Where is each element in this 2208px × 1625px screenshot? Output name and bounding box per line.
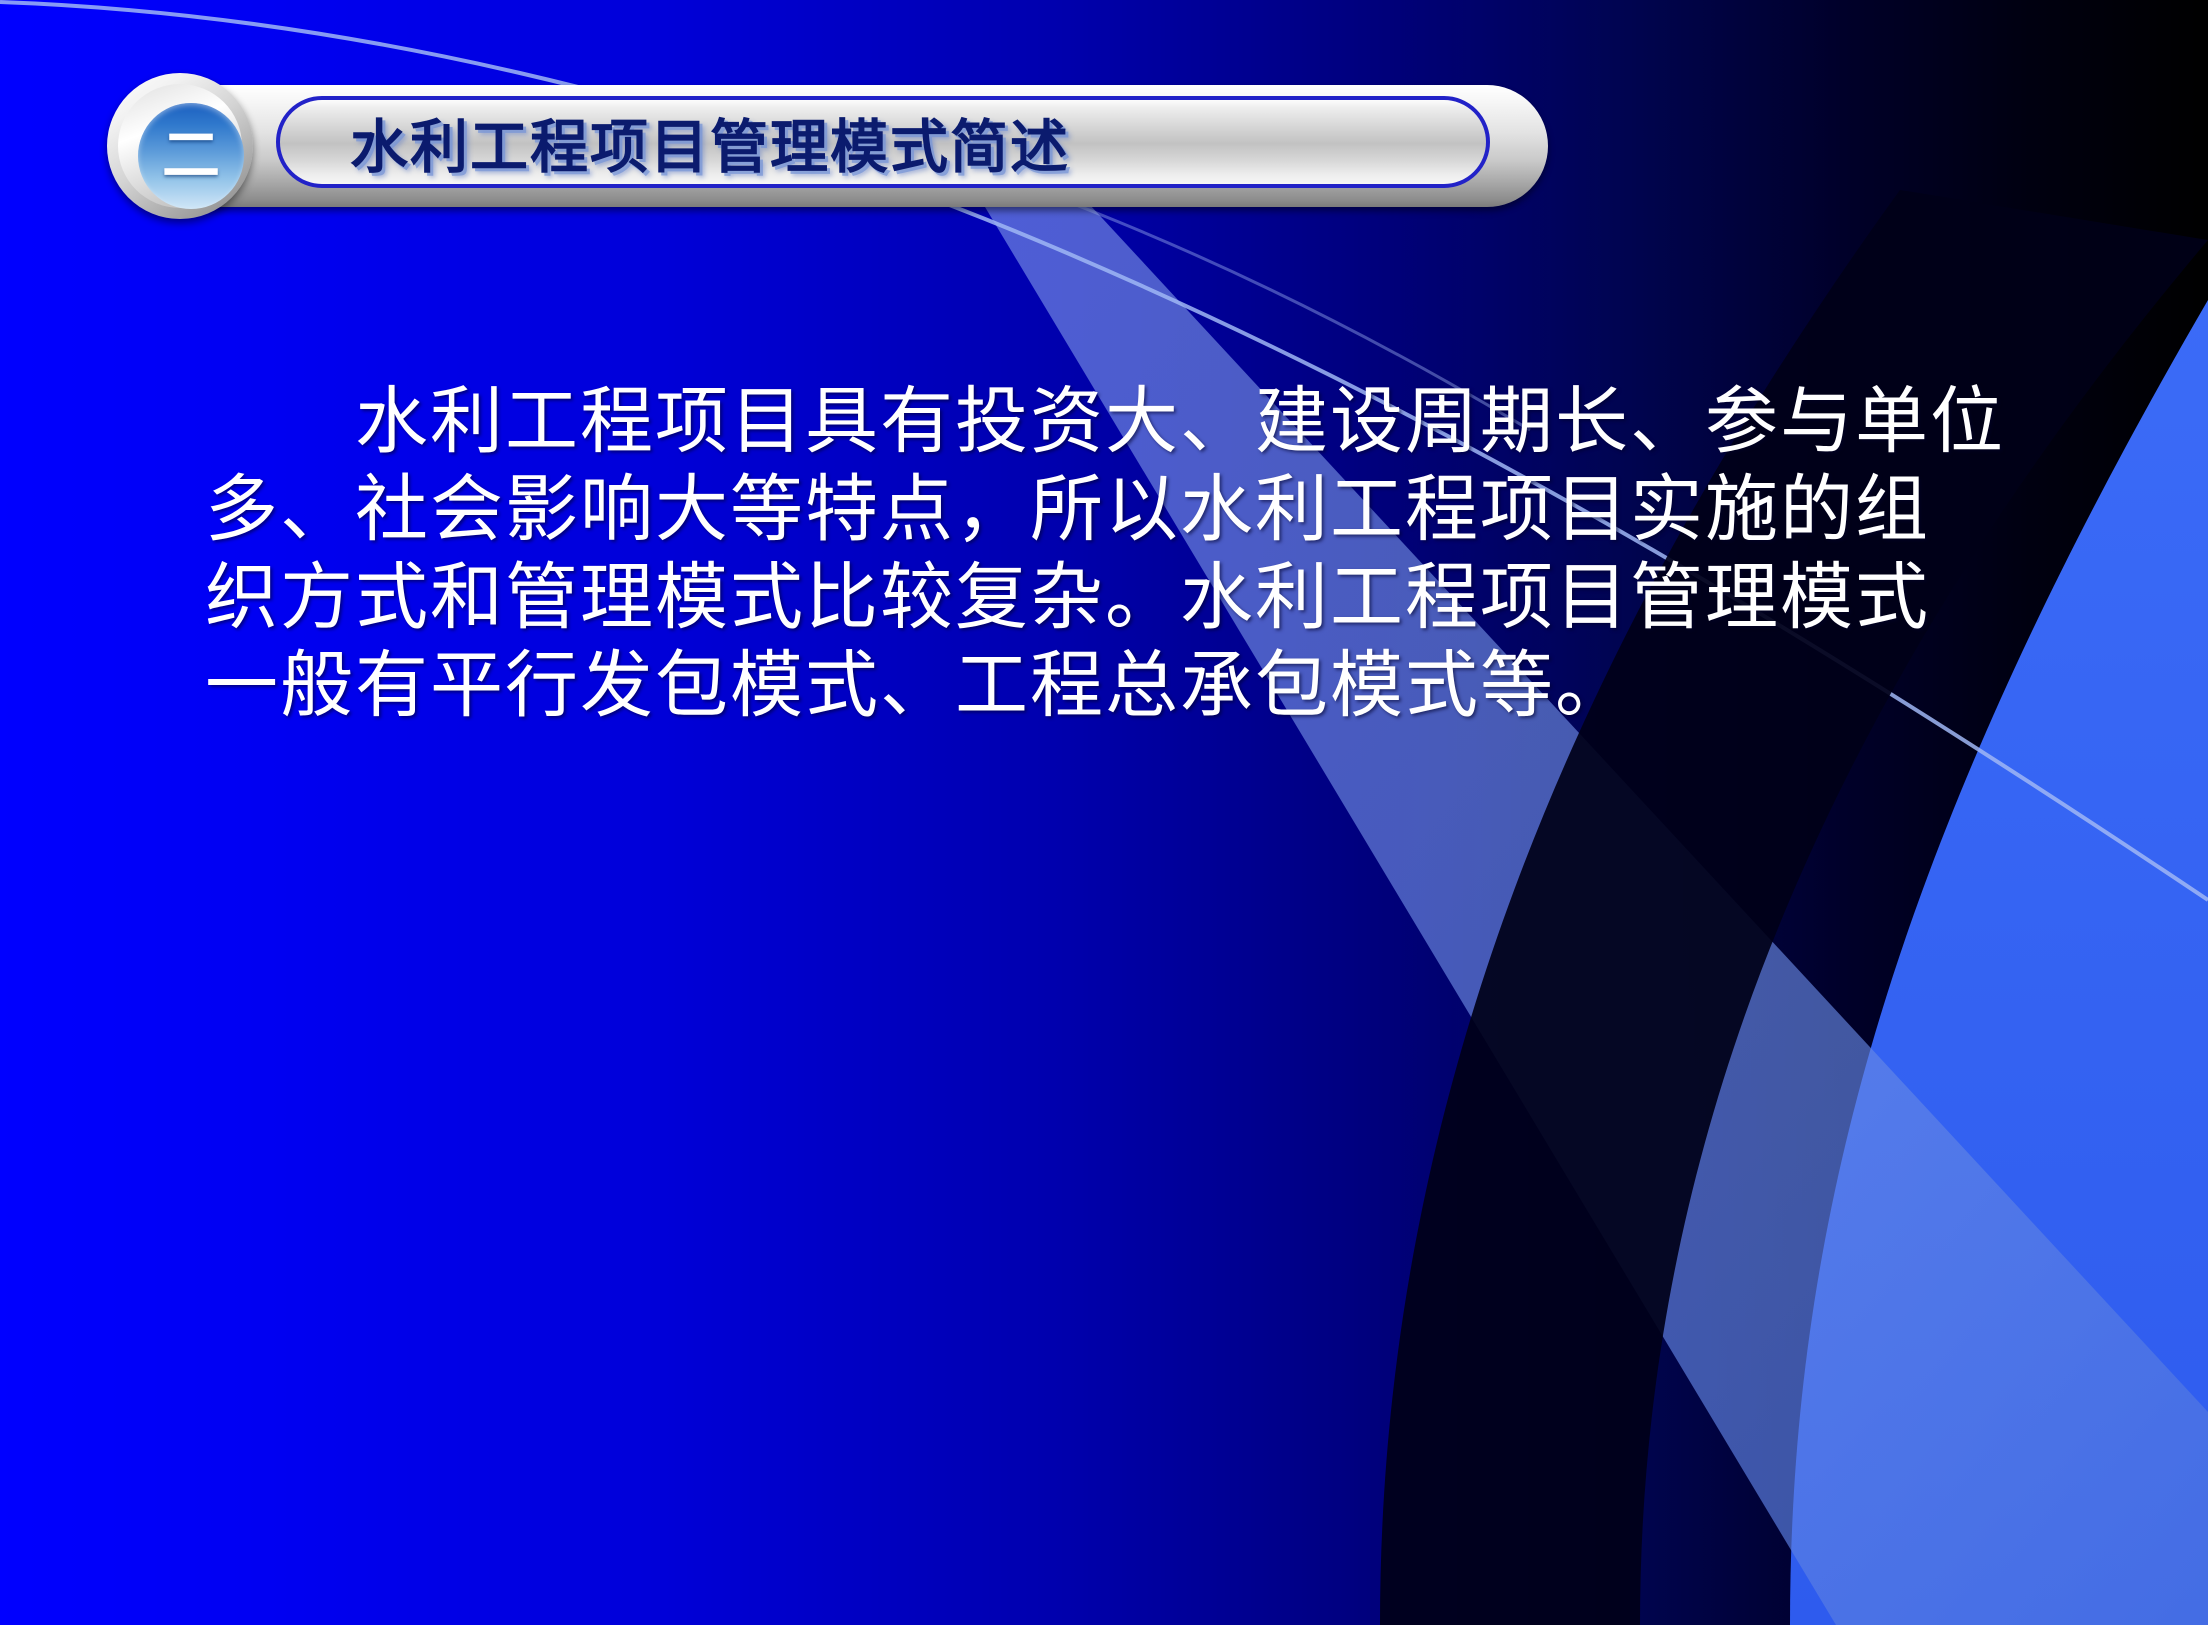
- slide-body-text: 水利工程项目具有投资大、建设周期长、参与单位 多、社会影响大等特点，所以水利工程…: [205, 378, 2095, 730]
- paragraph-line: 织方式和管理模式比较复杂。水利工程项目管理模式: [205, 554, 2095, 642]
- title-bar-pill: 水利工程项目管理模式简述: [276, 96, 1490, 188]
- page-title: 水利工程项目管理模式简述: [350, 100, 1070, 184]
- paragraph-line: 一般有平行发包模式、工程总承包模式等。: [205, 642, 2095, 730]
- section-number-badge: 二: [107, 73, 253, 219]
- background-decoration: [0, 0, 2208, 1625]
- slide-title-bar: 水利工程项目管理模式简述 二: [128, 85, 1548, 207]
- paragraph-line: 水利工程项目具有投资大、建设周期长、参与单位: [205, 378, 2095, 466]
- badge-numeral: 二: [162, 127, 220, 185]
- badge-ring: 二: [118, 84, 242, 208]
- badge-inner-circle: 二: [138, 103, 244, 209]
- paragraph-line: 多、社会影响大等特点，所以水利工程项目实施的组: [205, 466, 2095, 554]
- presentation-slide: 水利工程项目管理模式简述 二 水利工程项目具有投资大、建设周期长、参与单位 多、…: [0, 0, 2208, 1625]
